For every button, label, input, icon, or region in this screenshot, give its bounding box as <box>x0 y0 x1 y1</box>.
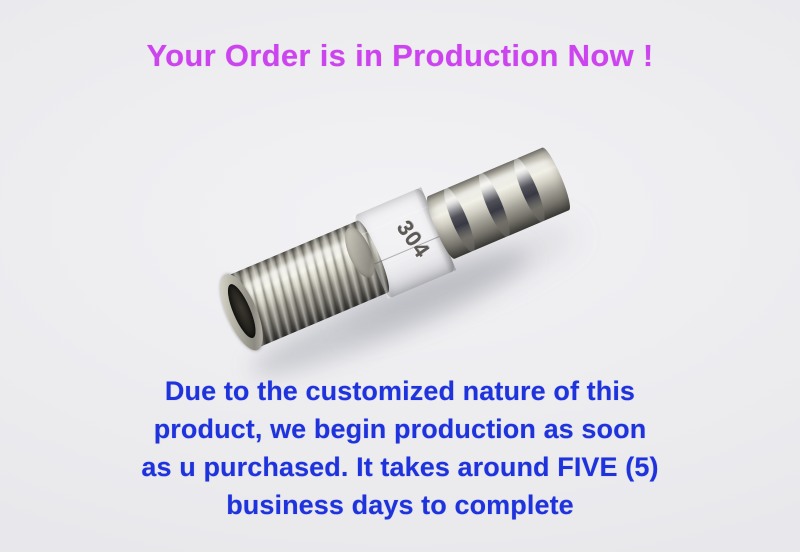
product-photo: 304 <box>185 140 615 370</box>
page-title: Your Order is in Production Now ! <box>0 38 800 74</box>
production-notice-text: Due to the customized nature of this pro… <box>0 372 800 524</box>
notice-line: as u purchased. It takes around FIVE (5) <box>0 448 800 486</box>
notice-line: product, we begin production as soon <box>0 410 800 448</box>
notice-line: business days to complete <box>0 486 800 524</box>
notice-line: Due to the customized nature of this <box>0 372 800 410</box>
order-production-notice-card: Your Order is in Production Now ! 304 <box>0 0 800 552</box>
